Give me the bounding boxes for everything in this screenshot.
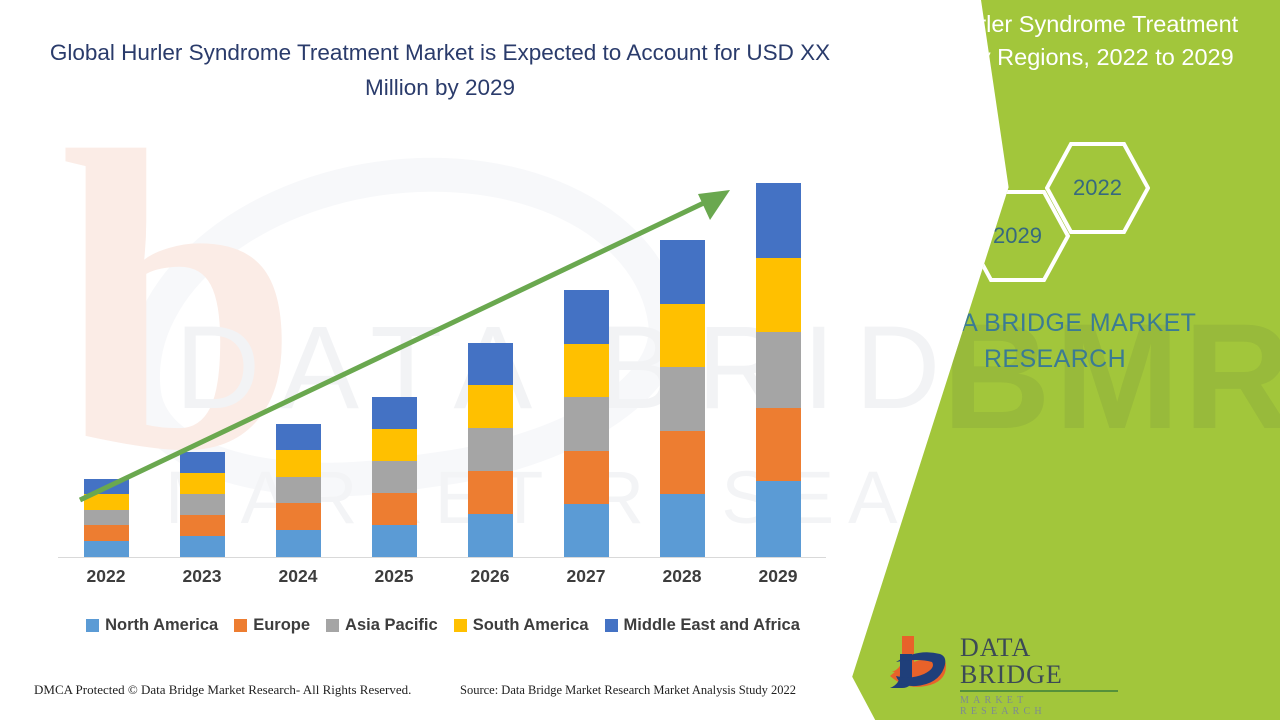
x-axis-label-2028: 2028 <box>634 566 730 587</box>
x-axis-labels: 20222023202420252026202720282029 <box>58 566 826 587</box>
legend-item[interactable]: Middle East and Africa <box>605 616 800 635</box>
right-green-panel: DBMR Global Hurler Syndrome Treatment Ma… <box>820 0 1280 720</box>
logo-name: DATA BRIDGE <box>960 634 1118 692</box>
legend-label: South America <box>473 616 589 635</box>
footer-source: Source: Data Bridge Market Research Mark… <box>460 683 796 698</box>
x-axis-label-2025: 2025 <box>346 566 442 587</box>
legend-item[interactable]: Europe <box>234 616 310 635</box>
x-axis-label-2022: 2022 <box>58 566 154 587</box>
hexagon-badge-2029: 2029 <box>965 188 1070 284</box>
legend-label: Middle East and Africa <box>624 616 800 635</box>
legend-label: Europe <box>253 616 310 635</box>
x-axis-label-2027: 2027 <box>538 566 634 587</box>
brand-name-line-1: DATA BRIDGE MARKET <box>850 305 1260 341</box>
x-axis-label-2026: 2026 <box>442 566 538 587</box>
x-axis-label-2023: 2023 <box>154 566 250 587</box>
hexagon-badge-2029-label: 2029 <box>993 223 1042 249</box>
legend-label: Asia Pacific <box>345 616 438 635</box>
brand-name-line-2: RESEARCH <box>850 341 1260 377</box>
legend-item[interactable]: North America <box>86 616 218 635</box>
legend-item[interactable]: South America <box>454 616 589 635</box>
hexagon-badge-2022-label: 2022 <box>1073 175 1122 201</box>
databridge-b-icon <box>888 632 950 690</box>
slide-canvas: b DATA BRIDGE MARKET RESEARCH Global Hur… <box>0 0 1280 720</box>
legend-swatch-icon <box>86 619 99 632</box>
logo-tagline: MARKET RESEARCH <box>960 695 1118 717</box>
legend-swatch-icon <box>605 619 618 632</box>
x-axis-label-2024: 2024 <box>250 566 346 587</box>
logo-text: DATA BRIDGE MARKET RESEARCH <box>960 634 1118 717</box>
hexagon-badges: 2022 2029 <box>940 140 1240 290</box>
x-axis-label-2029: 2029 <box>730 566 826 587</box>
panel-title: Global Hurler Syndrome Treatment Market,… <box>846 8 1266 75</box>
page-title: Global Hurler Syndrome Treatment Market … <box>40 36 840 106</box>
legend-item[interactable]: Asia Pacific <box>326 616 438 635</box>
company-logo: DATA BRIDGE MARKET RESEARCH <box>888 630 1118 692</box>
legend-label: North America <box>105 616 218 635</box>
footer-copyright: DMCA Protected © Data Bridge Market Rese… <box>34 682 411 698</box>
brand-name: DATA BRIDGE MARKET RESEARCH <box>850 305 1260 378</box>
legend-swatch-icon <box>326 619 339 632</box>
legend-swatch-icon <box>454 619 467 632</box>
growth-arrow-icon <box>58 160 828 560</box>
legend-swatch-icon <box>234 619 247 632</box>
chart-legend: North AmericaEuropeAsia PacificSouth Ame… <box>58 616 828 635</box>
